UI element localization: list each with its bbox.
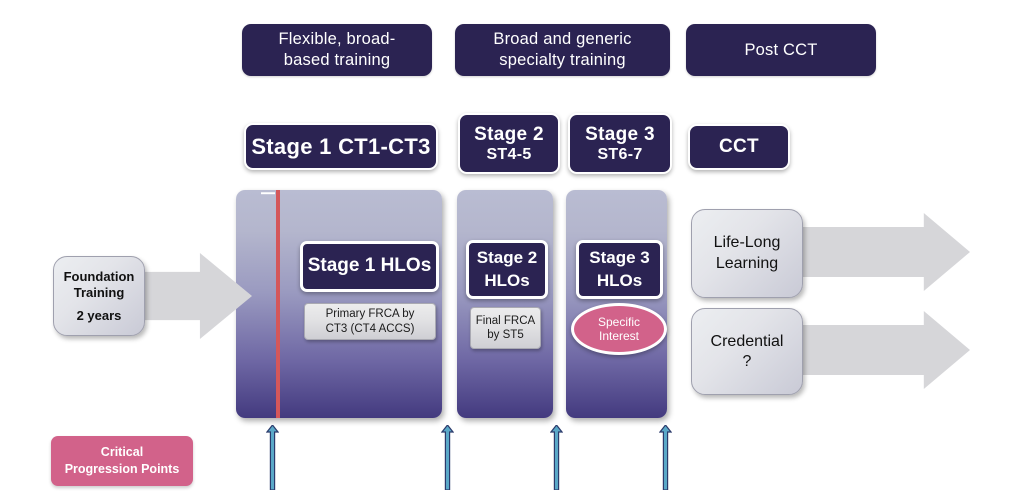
cpp-arrow-1 (266, 425, 279, 490)
header-pill-line1: Broad and generic (493, 29, 631, 50)
cpp-arrow-2 (441, 425, 454, 490)
stage-label-line1: CCT (719, 136, 759, 158)
credential-line2: ? (743, 353, 752, 371)
foundation-line1: Foundation (64, 269, 135, 285)
stage-label-line1: Stage 1 CT1-CT3 (251, 134, 430, 160)
stage-3-hlo-line1: Stage 3 (589, 247, 649, 269)
legend-line2: Progression Points (65, 461, 180, 478)
specific-interest-line2: Interest (598, 329, 640, 343)
header-pill-flexible-broad-based-training: Flexible, broad- based training (242, 24, 432, 76)
stage-label-stage-2: Stage 2 ST4-5 (458, 113, 560, 174)
stage-2-hlo-line1: Stage 2 (477, 247, 537, 269)
foundation-training-node: Foundation Training 2 years (53, 256, 145, 336)
stage-3-hlo-line2: HLOs (597, 270, 642, 292)
legend-line1: Critical (101, 444, 143, 461)
foundation-line2: Training (74, 285, 125, 301)
stage-label-line1: Stage 2 (474, 124, 544, 146)
stage-2-hlo-box: Stage 2 HLOs (466, 240, 548, 299)
stage-3-hlo-box: Stage 3 HLOs (576, 240, 663, 299)
specific-interest-ellipse: Specific Interest (571, 303, 667, 355)
credential-node: Credential ? (691, 308, 803, 395)
life-long-learning-line2: Learning (716, 254, 778, 275)
header-pill-broad-generic-specialty-training: Broad and generic specialty training (455, 24, 670, 76)
stage-1-hlo-box: Stage 1 HLOs (300, 241, 439, 292)
stage-2-column-body (457, 190, 553, 418)
credential-line1: Credential (711, 332, 784, 353)
stage-2-exam-box: Final FRCA by ST5 (470, 307, 541, 349)
header-pill-line1: Flexible, broad- (279, 29, 396, 50)
cpp-arrow-4 (659, 425, 672, 490)
stage-2-hlo-line2: HLOs (484, 270, 529, 292)
cpp-arrow-3 (550, 425, 563, 490)
life-long-learning-line1: Life-Long (714, 233, 781, 254)
diagram-canvas: Flexible, broad- based training Broad an… (0, 0, 1021, 502)
stage-2-column (457, 190, 553, 418)
stage-1-exam-line1: Primary FRCA by (326, 307, 415, 321)
stage-label-line1: Stage 3 (585, 124, 655, 146)
stage-label-stage-1: Stage 1 CT1-CT3 (244, 123, 438, 170)
stage-1-exam-box: Primary FRCA by CT3 (CT4 ACCS) (304, 303, 436, 340)
stage-label-stage-3: Stage 3 ST6-7 (568, 113, 672, 174)
stage-label-line2: ST6-7 (597, 146, 642, 164)
critical-progression-points-legend: Critical Progression Points (51, 436, 193, 486)
stage-1-exam-line2: CT3 (CT4 ACCS) (326, 322, 415, 336)
stage-label-line2: ST4-5 (486, 146, 531, 164)
iac-red-divider (276, 190, 280, 418)
header-pill-line2: based training (279, 50, 396, 71)
stage-label-cct: CCT (688, 124, 790, 170)
header-pill-line2: specialty training (493, 50, 631, 71)
header-pill-line1: Post CCT (744, 40, 817, 61)
foundation-line3: 2 years (77, 308, 122, 323)
header-pill-post-cct: Post CCT (686, 24, 876, 76)
stage-2-exam-line2: by ST5 (476, 328, 535, 342)
stage-1-hlo-line1: Stage 1 HLOs (308, 254, 432, 279)
specific-interest-line1: Specific (598, 315, 640, 329)
life-long-learning-node: Life-Long Learning (691, 209, 803, 298)
stage-2-exam-line1: Final FRCA (476, 314, 535, 328)
